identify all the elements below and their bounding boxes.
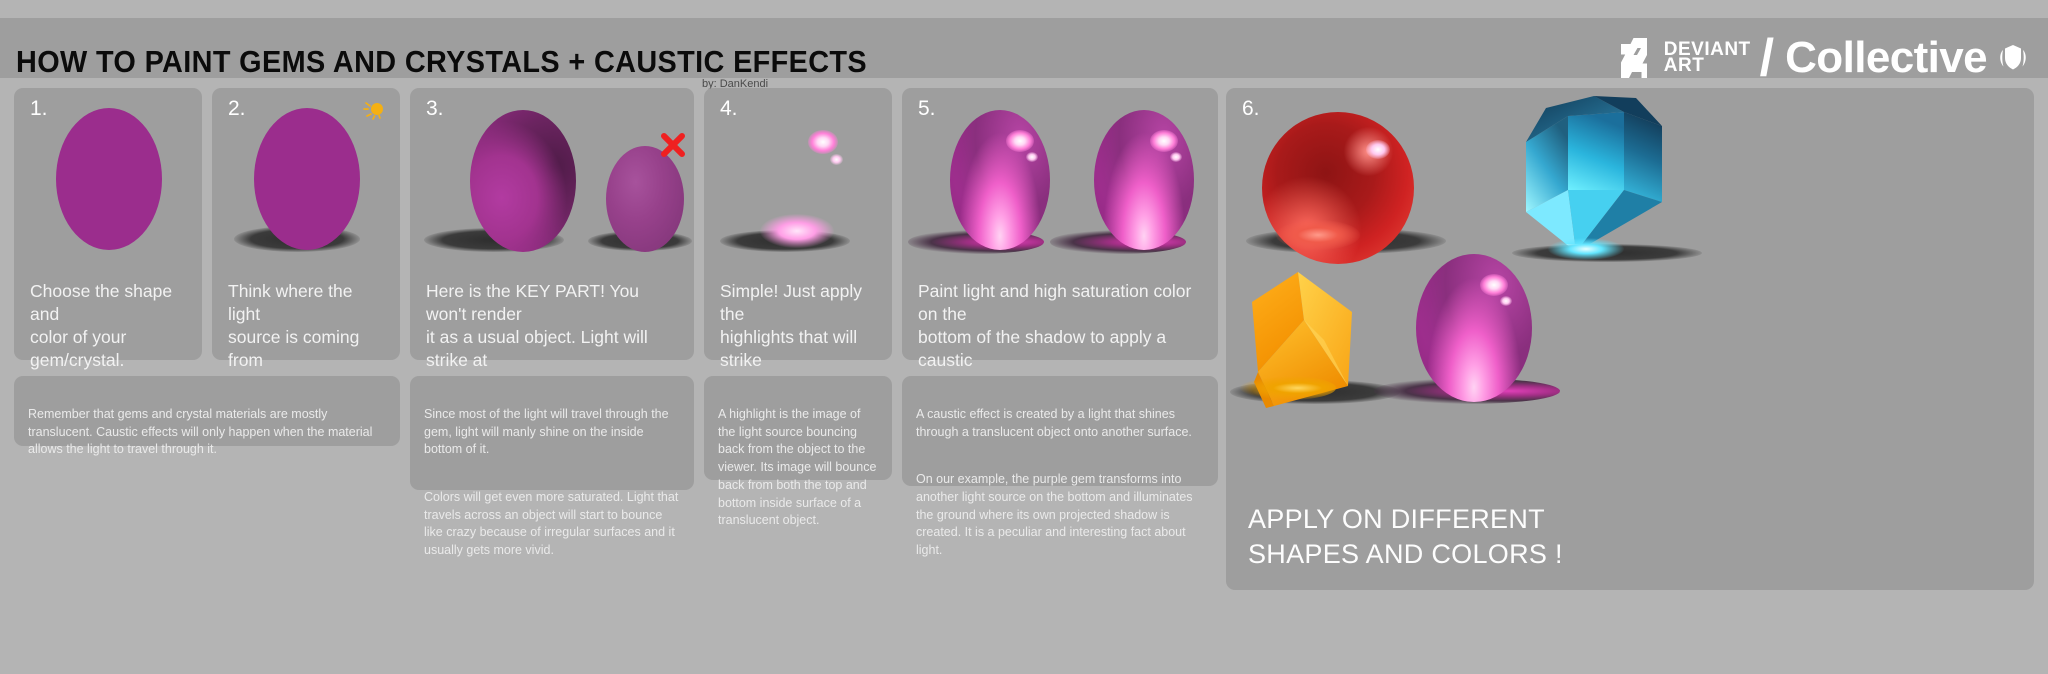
panel-6-artwork	[1226, 88, 2034, 518]
note-3-paragraph-2: Colors will get even more saturated. Lig…	[424, 489, 682, 560]
panel-2: 2. Think where the light source is comin…	[212, 88, 400, 360]
deviantart-collective-logo: DEVIANT ART / Collective	[1621, 34, 2030, 82]
secondary-highlight-right	[1170, 152, 1182, 162]
red-sphere-highlight	[1366, 140, 1390, 159]
gold-crystal-caustic	[1240, 376, 1336, 400]
flat-gem-shape	[254, 108, 360, 250]
header-bar: HOW TO PAINT GEMS AND CRYSTALS + CAUSTIC…	[0, 18, 2048, 78]
note-3-text: Since most of the light will travel thro…	[424, 388, 682, 578]
note-3: Since most of the light will travel thro…	[410, 376, 694, 490]
panel-6: 6.	[1226, 88, 2034, 590]
shield-laurel-icon	[1996, 41, 2030, 75]
bottom-bounce-light	[760, 214, 834, 248]
purple-gem	[1416, 254, 1532, 402]
note-5-text: A caustic effect is created by a light t…	[916, 388, 1206, 578]
infographic-sheet: HOW TO PAINT GEMS AND CRYSTALS + CAUSTIC…	[0, 0, 2048, 674]
panel-1: 1. Choose the shape and color of your ge…	[14, 88, 202, 360]
page-title: HOW TO PAINT GEMS AND CRYSTALS + CAUSTIC…	[16, 44, 867, 80]
purple-gem-highlight	[1480, 274, 1508, 296]
note-1-text: Remember that gems and crystal materials…	[28, 388, 388, 477]
panel-6-caption: APPLY ON DIFFERENT SHAPES AND COLORS !	[1248, 502, 1563, 572]
note-4-paragraph: A highlight is the image of the light so…	[718, 406, 880, 530]
panel-4-artwork	[704, 88, 892, 273]
secondary-highlight-left	[1026, 152, 1038, 162]
purple-gem-small-highlight	[1500, 296, 1512, 306]
primary-highlight-right	[1150, 130, 1178, 152]
red-sphere-bounce-light	[1276, 220, 1360, 250]
primary-highlight	[808, 130, 838, 154]
caustic-gem-left	[950, 110, 1050, 250]
note-5-paragraph-1: A caustic effect is created by a light t…	[916, 406, 1206, 442]
note-4: A highlight is the image of the light so…	[704, 376, 892, 480]
panel-3-artwork	[410, 88, 694, 273]
incorrectly-shaded-gem	[606, 146, 684, 252]
note-3-paragraph-1: Since most of the light will travel thro…	[424, 406, 682, 459]
collective-wordmark: Collective	[1785, 36, 1987, 80]
note-5-paragraph-2: On our example, the purple gem transform…	[916, 471, 1206, 560]
flat-gem-shape	[56, 108, 162, 250]
panel-3: 3. Here is the KEY PART! You won't rende…	[410, 88, 694, 360]
panel-1-artwork	[14, 88, 202, 273]
secondary-highlight	[830, 154, 843, 165]
note-4-text: A highlight is the image of the light so…	[718, 388, 880, 548]
note-1: Remember that gems and crystal materials…	[14, 376, 400, 446]
primary-highlight-left	[1006, 130, 1034, 152]
note-1-paragraph: Remember that gems and crystal materials…	[28, 406, 388, 459]
note-5: A caustic effect is created by a light t…	[902, 376, 1218, 486]
close-icon	[658, 130, 688, 160]
blue-crystal-caustic	[1548, 238, 1624, 260]
caustic-gem-right	[1094, 110, 1194, 250]
panel-5: 5. Paint light and high saturation color…	[902, 88, 1218, 360]
panel-4: 4. Simple! Just apply the highlights tha…	[704, 88, 892, 360]
panel-5-artwork	[902, 88, 1218, 273]
panel-2-artwork	[212, 88, 400, 273]
deviantart-logo-icon	[1621, 38, 1655, 78]
brand-slash: /	[1760, 32, 1774, 84]
correctly-shaded-gem	[470, 110, 576, 252]
deviantart-wordmark: DEVIANT ART	[1664, 42, 1751, 73]
art-word: ART	[1664, 58, 1751, 74]
